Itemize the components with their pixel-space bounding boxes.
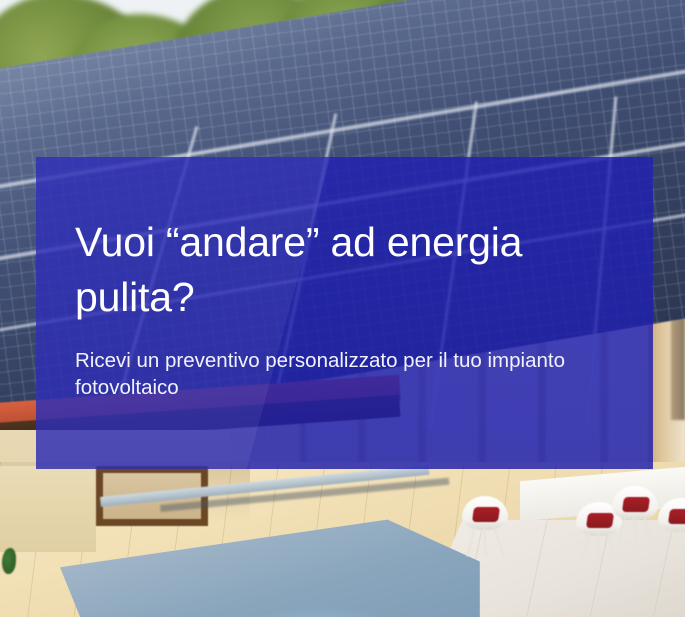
chair-cushion — [586, 513, 614, 528]
chair-cushion — [668, 509, 685, 524]
chair-cushion — [472, 507, 500, 522]
chair-legs — [468, 527, 504, 557]
chair-legs — [618, 517, 654, 547]
chair-cushion — [622, 497, 650, 512]
chair-legs — [664, 529, 685, 559]
cta-overlay-panel: Vuoi “andare” ad energia pulita? Ricevi … — [36, 157, 653, 469]
wall-strip — [0, 466, 96, 552]
hero-headline: Vuoi “andare” ad energia pulita? — [75, 215, 613, 325]
hero-banner: Vuoi “andare” ad energia pulita? Ricevi … — [0, 0, 685, 617]
overlay-content: Vuoi “andare” ad energia pulita? Ricevi … — [36, 157, 653, 401]
hero-subheadline: Ricevi un preventivo personalizzato per … — [75, 347, 595, 401]
chair-legs — [582, 533, 618, 563]
